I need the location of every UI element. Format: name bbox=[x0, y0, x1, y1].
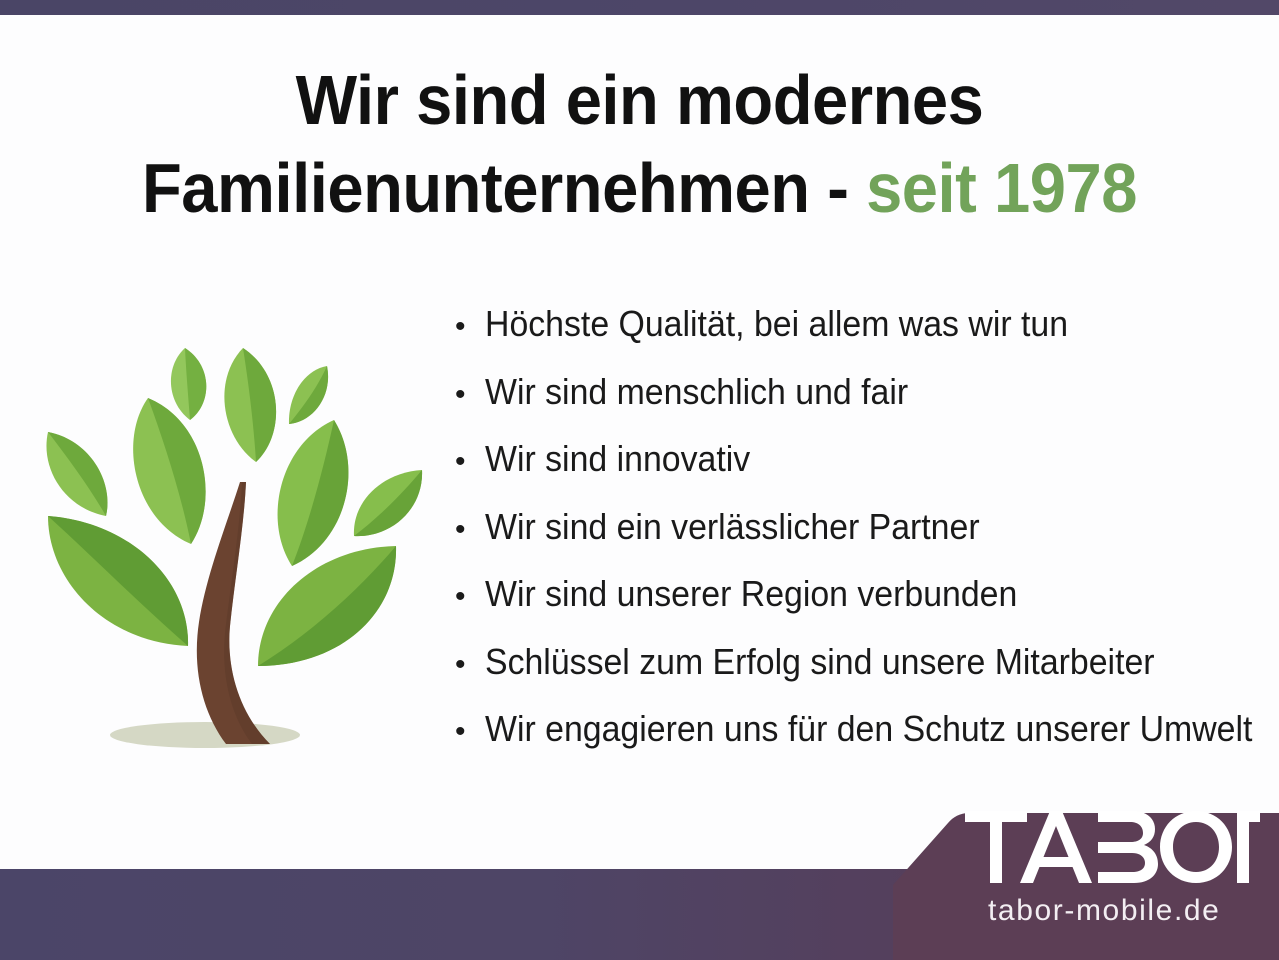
bullet-marker-icon: • bbox=[455, 712, 485, 752]
list-item: • Wir sind menschlich und fair bbox=[455, 372, 1270, 440]
leaf-lower-right bbox=[258, 546, 396, 666]
list-item-label: Höchste Qualität, bei allem was wir tun bbox=[485, 304, 1068, 344]
top-accent-bar bbox=[0, 0, 1279, 15]
page-title: Wir sind ein modernes Familienunternehme… bbox=[45, 56, 1234, 232]
leaf-upper-right bbox=[278, 420, 349, 566]
leaf-lower-left bbox=[48, 516, 188, 646]
list-item-label: Wir sind unserer Region verbunden bbox=[485, 574, 1017, 614]
bullet-marker-icon: • bbox=[455, 375, 485, 415]
slide-canvas: Wir sind ein modernes Familienunternehme… bbox=[0, 0, 1279, 960]
list-item-label: Schlüssel zum Erfolg sind unsere Mitarbe… bbox=[485, 642, 1155, 682]
list-item: • Schlüssel zum Erfolg sind unsere Mitar… bbox=[455, 642, 1270, 710]
bullet-marker-icon: • bbox=[455, 510, 485, 550]
list-item-label: Wir sind menschlich und fair bbox=[485, 372, 908, 412]
leaf-far-right-small bbox=[354, 470, 422, 536]
tree-shadow bbox=[110, 722, 300, 748]
bullet-marker-icon: • bbox=[455, 645, 485, 685]
headline-line-2-plain: Familienunternehmen - bbox=[142, 149, 866, 227]
list-item: • Wir sind innovativ bbox=[455, 439, 1270, 507]
list-item-label: Wir sind ein verlässlicher Partner bbox=[485, 507, 980, 547]
list-item-label: Wir sind innovativ bbox=[485, 439, 750, 479]
brand-tagline: tabor-mobile.de bbox=[988, 893, 1268, 929]
bullet-marker-icon: • bbox=[455, 307, 485, 347]
leaf-far-left-small bbox=[46, 432, 107, 516]
brand-wordmark bbox=[965, 811, 1260, 883]
list-item: • Wir sind unserer Region verbunden bbox=[455, 574, 1270, 642]
tree-illustration bbox=[30, 330, 442, 762]
headline-line-2: Familienunternehmen - seit 1978 bbox=[45, 144, 1234, 232]
value-list: • Höchste Qualität, bei allem was wir tu… bbox=[455, 304, 1270, 777]
list-item: • Höchste Qualität, bei allem was wir tu… bbox=[455, 304, 1270, 372]
list-item: • Wir engagieren uns für den Schutz unse… bbox=[455, 709, 1270, 777]
leaf-upper-left bbox=[133, 398, 205, 544]
headline-line-1: Wir sind ein modernes bbox=[45, 56, 1234, 144]
leaf-upper-left-small bbox=[171, 348, 206, 420]
leaf-top-center bbox=[224, 348, 276, 462]
leaf-upper-right-small bbox=[289, 366, 328, 424]
list-item-label: Wir engagieren uns für den Schutz unsere… bbox=[485, 709, 1252, 749]
bullet-marker-icon: • bbox=[455, 442, 485, 482]
list-item: • Wir sind ein verlässlicher Partner bbox=[455, 507, 1270, 575]
headline-accent: seit 1978 bbox=[866, 149, 1137, 227]
bullet-marker-icon: • bbox=[455, 577, 485, 617]
